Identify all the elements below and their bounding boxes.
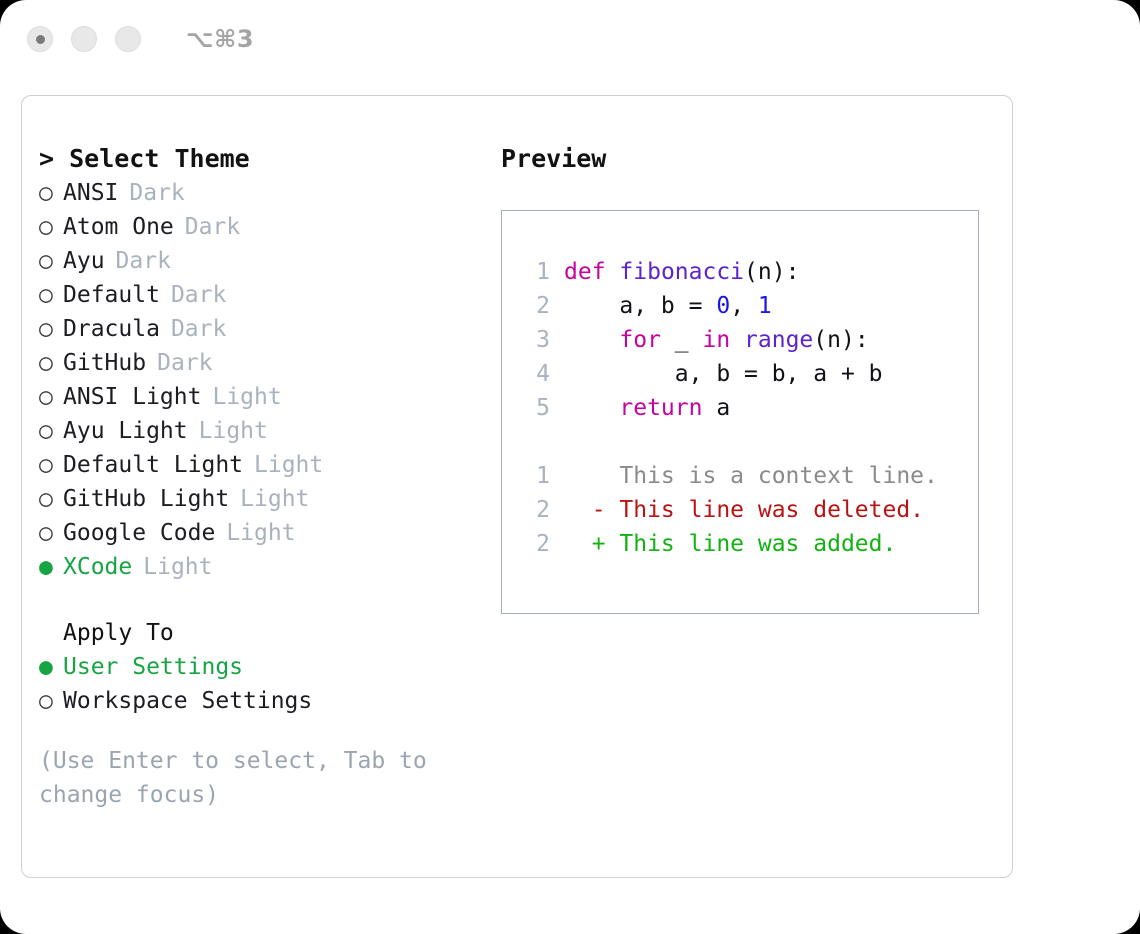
radio-unselected-icon: ○ xyxy=(39,312,63,346)
section-spacer xyxy=(39,584,487,616)
code-line: 1def fibonacci(n): xyxy=(502,255,978,289)
theme-variant-badge: Light xyxy=(201,380,281,414)
window-dot-3[interactable] xyxy=(115,26,141,52)
diff-line-content-del: - This line was deleted. xyxy=(564,493,924,527)
theme-option-label: XCode xyxy=(63,550,132,584)
code-line-number: 5 xyxy=(520,391,550,425)
code-token-pun xyxy=(606,259,620,285)
radio-unselected-icon: ○ xyxy=(39,244,63,278)
code-token-var: a, b = b, a + b xyxy=(564,361,883,387)
theme-variant-badge: Light xyxy=(229,482,309,516)
code-token-var: a xyxy=(702,395,730,421)
diff-line-content-ctx: This is a context line. xyxy=(564,459,938,493)
theme-option-label: Atom One xyxy=(63,210,174,244)
code-token-pun xyxy=(564,395,619,421)
theme-option-11[interactable]: ●XCodeLight xyxy=(39,550,487,584)
diff-sample: 1 This is a context line.2 - This line w… xyxy=(502,459,978,561)
app-window: ⌥⌘3 > Select Theme ○ANSIDark○Atom OneDar… xyxy=(0,0,1140,934)
window-dot-active-indicator xyxy=(36,35,45,44)
code-token-kw: return xyxy=(619,395,702,421)
code-token-var: _ xyxy=(661,327,703,353)
radio-unselected-icon: ○ xyxy=(39,176,63,210)
preview-column: Preview 1def fibonacci(n):2 a, b = 0, 13… xyxy=(501,142,991,614)
theme-option-list[interactable]: ○ANSIDark○Atom OneDark○AyuDark○DefaultDa… xyxy=(39,176,487,584)
code-preview-panel: 1def fibonacci(n):2 a, b = 0, 13 for _ i… xyxy=(501,210,979,614)
radio-unselected-icon: ○ xyxy=(39,516,63,550)
code-line: 4 a, b = b, a + b xyxy=(502,357,978,391)
code-token-pun xyxy=(730,327,744,353)
apply-to-option-list[interactable]: ●User Settings○Workspace Settings xyxy=(39,650,487,718)
theme-option-8[interactable]: ○Default LightLight xyxy=(39,448,487,482)
theme-option-label: Ayu xyxy=(63,244,105,278)
theme-option-1[interactable]: ○Atom OneDark xyxy=(39,210,487,244)
code-token-pun: (n): xyxy=(813,327,868,353)
code-line: 5 return a xyxy=(502,391,978,425)
code-token-kw: def xyxy=(564,259,606,285)
theme-variant-badge: Dark xyxy=(160,312,226,346)
theme-option-7[interactable]: ○Ayu LightLight xyxy=(39,414,487,448)
radio-unselected-icon: ○ xyxy=(39,414,63,448)
radio-unselected-icon: ○ xyxy=(39,684,63,718)
theme-option-3[interactable]: ○DefaultDark xyxy=(39,278,487,312)
radio-unselected-icon: ○ xyxy=(39,346,63,380)
code-token-num: 0 xyxy=(716,293,730,319)
code-line-number: 1 xyxy=(520,255,550,289)
code-token-num: 1 xyxy=(758,293,772,319)
diff-line-number: 1 xyxy=(520,459,550,493)
theme-option-4[interactable]: ○DraculaDark xyxy=(39,312,487,346)
window-dot-2[interactable] xyxy=(71,26,97,52)
window-titlebar: ⌥⌘3 xyxy=(0,0,1140,78)
theme-variant-badge: Dark xyxy=(105,244,171,278)
theme-variant-badge: Dark xyxy=(160,278,226,312)
radio-selected-icon: ● xyxy=(39,550,63,584)
diff-line-number: 2 xyxy=(520,493,550,527)
diff-line: 2 + This line was added. xyxy=(502,527,978,561)
theme-option-label: Ayu Light xyxy=(63,414,188,448)
code-line-number: 4 xyxy=(520,357,550,391)
theme-variant-badge: Light xyxy=(243,448,323,482)
theme-option-label: ANSI xyxy=(63,176,118,210)
radio-unselected-icon: ○ xyxy=(39,278,63,312)
code-token-kw: for xyxy=(619,327,661,353)
code-line-content: a, b = b, a + b xyxy=(564,357,883,391)
syntax-highlight-sample: 1def fibonacci(n):2 a, b = 0, 13 for _ i… xyxy=(502,255,978,425)
diff-line: 2 - This line was deleted. xyxy=(502,493,978,527)
apply-to-option-0[interactable]: ●User Settings xyxy=(39,650,487,684)
radio-unselected-icon: ○ xyxy=(39,448,63,482)
code-token-pun xyxy=(564,327,619,353)
preview-section-gap xyxy=(502,425,978,459)
code-line-content: def fibonacci(n): xyxy=(564,255,799,289)
code-line-content: return a xyxy=(564,391,730,425)
theme-variant-badge: Dark xyxy=(146,346,212,380)
theme-option-0[interactable]: ○ANSIDark xyxy=(39,176,487,210)
code-line-number: 3 xyxy=(520,323,550,357)
theme-option-6[interactable]: ○ANSI LightLight xyxy=(39,380,487,414)
theme-option-label: Google Code xyxy=(63,516,215,550)
apply-to-option-label: User Settings xyxy=(63,650,243,684)
theme-option-5[interactable]: ○GitHubDark xyxy=(39,346,487,380)
theme-variant-badge: Light xyxy=(188,414,268,448)
preview-heading: Preview xyxy=(501,142,991,176)
theme-option-10[interactable]: ○Google CodeLight xyxy=(39,516,487,550)
keyboard-shortcut-label: ⌥⌘3 xyxy=(186,25,254,53)
code-token-fn: range xyxy=(744,327,813,353)
apply-to-label: Apply To xyxy=(39,616,487,650)
theme-variant-badge: Dark xyxy=(118,176,184,210)
radio-unselected-icon: ○ xyxy=(39,210,63,244)
theme-selection-column: > Select Theme ○ANSIDark○Atom OneDark○Ay… xyxy=(39,142,487,812)
code-line-content: a, b = 0, 1 xyxy=(564,289,772,323)
hint-spacer xyxy=(39,718,487,744)
theme-variant-badge: Light xyxy=(215,516,295,550)
theme-option-label: Default xyxy=(63,278,160,312)
diff-line-content-add: + This line was added. xyxy=(564,527,896,561)
radio-unselected-icon: ○ xyxy=(39,380,63,414)
code-token-kw: in xyxy=(702,327,730,353)
theme-option-label: Dracula xyxy=(63,312,160,346)
theme-option-label: GitHub Light xyxy=(63,482,229,516)
diff-line: 1 This is a context line. xyxy=(502,459,978,493)
code-token-pun: , xyxy=(730,293,758,319)
code-line: 2 a, b = 0, 1 xyxy=(502,289,978,323)
window-dot-1[interactable] xyxy=(27,26,53,52)
theme-option-9[interactable]: ○GitHub LightLight xyxy=(39,482,487,516)
code-line-content: for _ in range(n): xyxy=(564,323,869,357)
code-token-pun: (n): xyxy=(744,259,799,285)
radio-unselected-icon: ○ xyxy=(39,482,63,516)
code-line: 3 for _ in range(n): xyxy=(502,323,978,357)
main-content-card: > Select Theme ○ANSIDark○Atom OneDark○Ay… xyxy=(21,95,1013,878)
radio-selected-icon: ● xyxy=(39,650,63,684)
diff-line-number: 2 xyxy=(520,527,550,561)
code-token-var: a, b = xyxy=(564,293,716,319)
keyboard-hint-text: (Use Enter to select, Tab to change focu… xyxy=(39,744,459,812)
theme-option-2[interactable]: ○AyuDark xyxy=(39,244,487,278)
select-theme-heading: > Select Theme xyxy=(39,142,487,176)
theme-option-label: GitHub xyxy=(63,346,146,380)
window-control-dots xyxy=(27,26,141,52)
theme-option-label: ANSI Light xyxy=(63,380,201,414)
apply-to-option-1[interactable]: ○Workspace Settings xyxy=(39,684,487,718)
apply-to-option-label: Workspace Settings xyxy=(63,684,312,718)
code-line-number: 2 xyxy=(520,289,550,323)
theme-variant-badge: Light xyxy=(132,550,212,584)
code-token-fn: fibonacci xyxy=(619,259,744,285)
theme-variant-badge: Dark xyxy=(174,210,240,244)
theme-option-label: Default Light xyxy=(63,448,243,482)
